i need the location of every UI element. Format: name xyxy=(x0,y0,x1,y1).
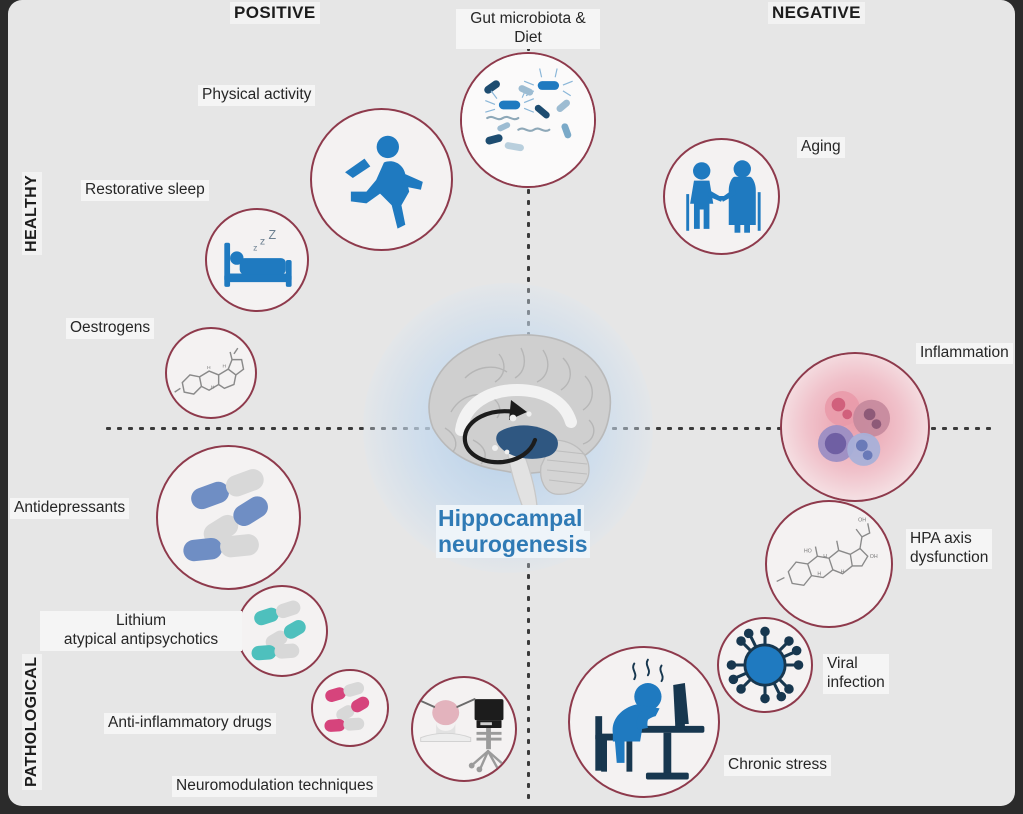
sleeping-person-in-bed-icon: z z Z xyxy=(207,210,307,310)
label-hpa-axis-dysfunction: HPA axis dysfunction xyxy=(906,529,992,569)
node-chronic-stress[interactable] xyxy=(568,646,720,798)
label-viral-infection: Viral infection xyxy=(823,654,889,694)
blue-capsules-icon xyxy=(158,447,299,588)
label-chronic-stress: Chronic stress xyxy=(724,755,831,776)
neuromodulation-device-icon xyxy=(413,678,515,780)
svg-text:OH: OH xyxy=(870,554,878,560)
label-aging: Aging xyxy=(797,137,845,158)
teal-capsules-icon xyxy=(238,587,326,675)
svg-text:HO: HO xyxy=(804,548,812,554)
immune-cells-icon xyxy=(782,354,928,500)
node-viral-infection[interactable] xyxy=(717,617,813,713)
svg-text:H: H xyxy=(841,570,845,576)
brain-sagittal-illustration xyxy=(403,320,633,520)
oestrogen-molecule-icon: HHH xyxy=(167,329,255,417)
node-anti-inflammatory-drugs[interactable] xyxy=(311,669,389,747)
pink-capsules-icon xyxy=(313,671,387,745)
node-physical-activity[interactable] xyxy=(310,108,453,251)
svg-text:H: H xyxy=(207,365,211,371)
svg-text:H: H xyxy=(211,384,215,390)
virus-icon xyxy=(719,619,811,711)
svg-text:H: H xyxy=(823,554,827,560)
axis-label-positive: POSITIVE xyxy=(230,2,320,24)
label-lithium-antipsychotics: Lithium atypical antipsychotics xyxy=(40,611,242,651)
running-person-icon xyxy=(312,110,451,249)
axis-label-healthy: HEALTHY xyxy=(22,172,42,255)
node-antidepressants[interactable] xyxy=(156,445,301,590)
label-antidepressants: Antidepressants xyxy=(10,498,129,519)
node-neuromodulation[interactable] xyxy=(411,676,517,782)
svg-text:z: z xyxy=(253,242,257,252)
node-aging[interactable] xyxy=(663,138,780,255)
stressed-person-at-desk-icon xyxy=(570,648,718,796)
svg-text:H: H xyxy=(222,363,226,369)
label-anti-inflammatory-drugs: Anti-inflammatory drugs xyxy=(104,713,276,734)
cortisol-molecule-icon: HO OH OH H H H xyxy=(767,502,891,626)
label-restorative-sleep: Restorative sleep xyxy=(81,180,209,201)
node-gut-microbiota-diet[interactable] xyxy=(460,52,596,188)
center-title: Hippocampal neurogenesis xyxy=(436,505,636,558)
center-title-line2: neurogenesis xyxy=(436,531,590,557)
node-inflammation[interactable] xyxy=(780,352,930,502)
elderly-couple-icon xyxy=(665,140,778,253)
diagram-canvas: POSITIVE NEGATIVE HEALTHY PATHOLOGICAL xyxy=(8,0,1015,806)
svg-text:z: z xyxy=(260,236,265,248)
label-gut-microbiota-diet: Gut microbiota & Diet xyxy=(456,9,600,49)
svg-text:Z: Z xyxy=(269,228,277,242)
center-title-line1: Hippocampal xyxy=(436,505,584,531)
label-inflammation: Inflammation xyxy=(916,343,1013,364)
node-restorative-sleep[interactable]: z z Z xyxy=(205,208,309,312)
label-neuromodulation: Neuromodulation techniques xyxy=(172,776,377,797)
svg-text:OH: OH xyxy=(858,517,866,523)
node-lithium-antipsychotics[interactable] xyxy=(236,585,328,677)
diagram-frame: POSITIVE NEGATIVE HEALTHY PATHOLOGICAL xyxy=(0,0,1023,814)
axis-label-negative: NEGATIVE xyxy=(768,2,865,24)
axis-label-pathological: PATHOLOGICAL xyxy=(22,654,42,790)
node-hpa-axis-dysfunction[interactable]: HO OH OH H H H xyxy=(765,500,893,628)
label-physical-activity: Physical activity xyxy=(198,85,315,106)
label-oestrogens: Oestrogens xyxy=(66,318,154,339)
node-oestrogens[interactable]: HHH xyxy=(165,327,257,419)
bacteria-icon xyxy=(462,54,594,186)
svg-text:H: H xyxy=(817,572,821,578)
